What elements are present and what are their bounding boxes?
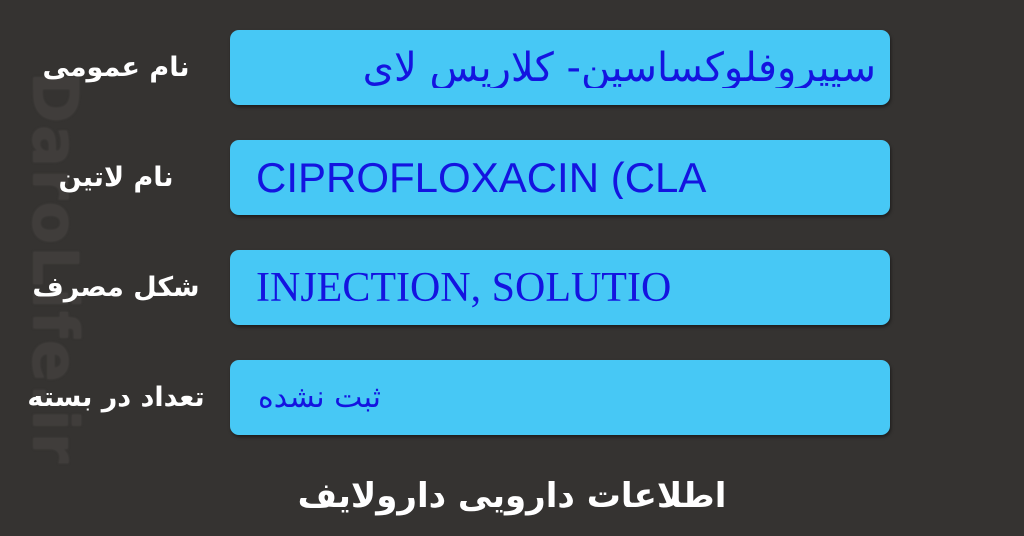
row-label-package-count: تعداد در بسته — [0, 382, 230, 413]
footer: اطلاعات دارویی دارولایف — [0, 455, 1024, 536]
drug-attribute-list: نام عمومی سیپروفلوکساسین- کلاریس لای نام… — [0, 0, 1024, 450]
table-row: شکل مصرف INJECTION, SOLUTIO — [0, 250, 1024, 325]
table-row: نام لاتین CIPROFLOXACIN (CLA — [0, 140, 1024, 215]
table-row: نام عمومی سیپروفلوکساسین- کلاریس لای — [0, 30, 1024, 105]
drug-info-card: DaroLife.ir نام عمومی سیپروفلوکساسین- کل… — [0, 0, 1024, 536]
row-value-latin-name: CIPROFLOXACIN (CLA — [230, 157, 890, 199]
row-label-dosage-form: شکل مصرف — [0, 272, 230, 303]
row-value-box-package-count[interactable]: ثبت نشده — [230, 360, 890, 435]
row-value-dosage-form: INJECTION, SOLUTIO — [230, 267, 890, 309]
row-label-generic-name: نام عمومی — [0, 52, 230, 83]
row-value-package-count: ثبت نشده — [230, 383, 890, 413]
row-label-latin-name: نام لاتین — [0, 162, 230, 193]
row-value-box-latin-name[interactable]: CIPROFLOXACIN (CLA — [230, 140, 890, 215]
row-value-box-generic-name[interactable]: سیپروفلوکساسین- کلاریس لای — [230, 30, 890, 105]
table-row: تعداد در بسته ثبت نشده — [0, 360, 1024, 435]
row-value-generic-name: سیپروفلوکساسین- کلاریس لای — [230, 48, 890, 88]
footer-title: اطلاعات دارویی دارولایف — [298, 476, 727, 516]
row-value-box-dosage-form[interactable]: INJECTION, SOLUTIO — [230, 250, 890, 325]
